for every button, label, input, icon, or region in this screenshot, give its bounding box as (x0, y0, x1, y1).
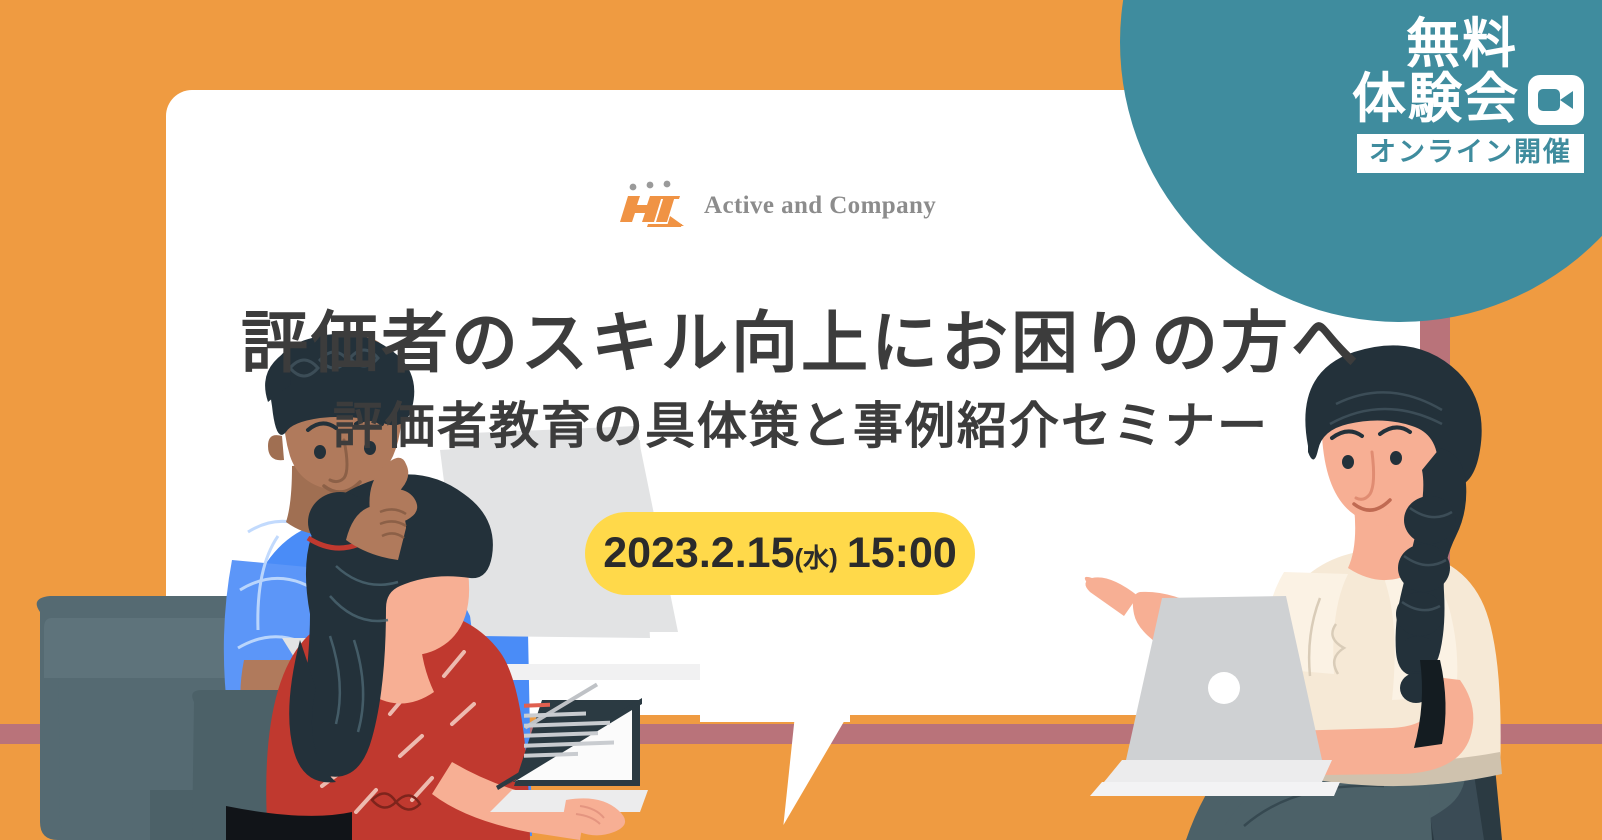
main-headline: 評価者のスキル向上にお困りの方へ (0, 306, 1602, 381)
seminar-banner: 無料 体験会 オンライン開催 Active and Company 評価者のスキ… (0, 0, 1602, 840)
active-and-company-mark-icon (618, 180, 690, 232)
badge-label-trial-session: 体験会 (1352, 71, 1520, 128)
brand-logo-text: Active and Company (704, 192, 936, 220)
brand-logo[interactable]: Active and Company (618, 180, 936, 232)
free-trial-badge: 無料 体験会 オンライン開催 (1264, 16, 1584, 173)
badge-label-free: 無料 (1264, 16, 1584, 73)
sub-headline: 評価者教育の具体策と事例紹介セミナー (0, 398, 1602, 456)
speech-bubble-tail (783, 700, 856, 825)
event-date: 2023.2.15 (603, 529, 794, 578)
event-time: 15:00 (847, 529, 957, 578)
event-day-of-week: (水) (794, 538, 837, 575)
badge-online-label: オンライン開催 (1357, 134, 1584, 172)
video-camera-icon (1528, 75, 1584, 125)
event-date-badge: 2023.2.15 (水) 15:00 (585, 512, 975, 595)
